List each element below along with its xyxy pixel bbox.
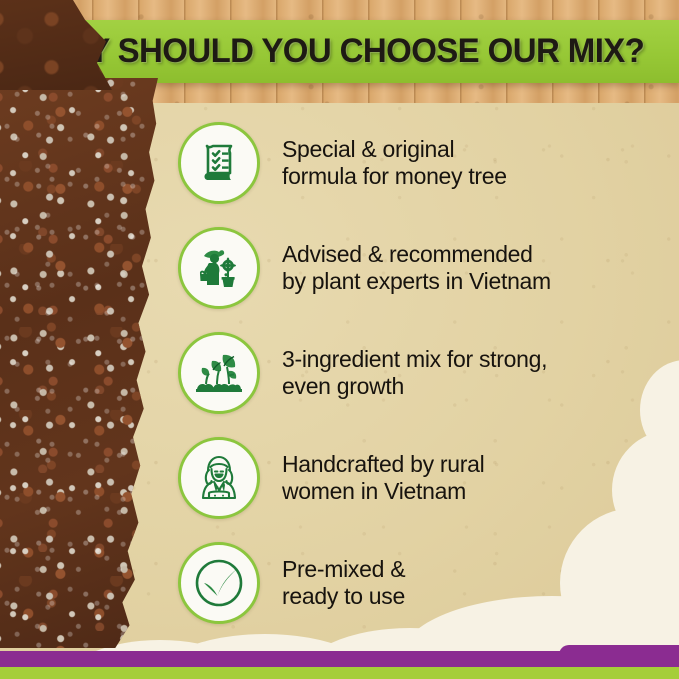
page-title: WHY SHOULD YOU CHOOSE OUR MIX? — [35, 32, 645, 71]
feature-text: Handcrafted by rural women in Vietnam — [282, 451, 484, 505]
feature-text: Advised & recommended by plant experts i… — [282, 241, 551, 295]
feature-line-1: Special & original — [282, 136, 507, 163]
feature-line-1: Handcrafted by rural — [282, 451, 484, 478]
list-item: Advised & recommended by plant experts i… — [178, 215, 678, 320]
check-circle-icon — [178, 542, 260, 624]
feature-line-1: 3-ingredient mix for strong, — [282, 346, 547, 373]
promo-infographic: WHY SHOULD YOU CHOOSE OUR MIX? Special & — [0, 0, 679, 679]
feature-list: Special & original formula for money tre… — [178, 110, 678, 635]
feature-line-2: ready to use — [282, 583, 405, 610]
footer-green-bar — [0, 667, 679, 679]
gardener-watering-plant-icon — [178, 227, 260, 309]
checklist-document-icon — [178, 122, 260, 204]
feature-line-1: Advised & recommended — [282, 241, 551, 268]
footer-purple-bar — [0, 651, 679, 667]
feature-text: Pre-mixed & ready to use — [282, 556, 405, 610]
feature-line-2: women in Vietnam — [282, 478, 484, 505]
feature-line-1: Pre-mixed & — [282, 556, 405, 583]
feature-line-2: by plant experts in Vietnam — [282, 268, 551, 295]
feature-line-2: even growth — [282, 373, 547, 400]
list-item: Handcrafted by rural women in Vietnam — [178, 425, 678, 530]
feature-line-2: formula for money tree — [282, 163, 507, 190]
feature-text: 3-ingredient mix for strong, even growth — [282, 346, 547, 400]
list-item: Special & original formula for money tre… — [178, 110, 678, 215]
rural-woman-icon — [178, 437, 260, 519]
feature-text: Special & original formula for money tre… — [282, 136, 507, 190]
sprouting-seedlings-icon — [178, 332, 260, 414]
list-item: 3-ingredient mix for strong, even growth — [178, 320, 678, 425]
list-item: Pre-mixed & ready to use — [178, 530, 678, 635]
